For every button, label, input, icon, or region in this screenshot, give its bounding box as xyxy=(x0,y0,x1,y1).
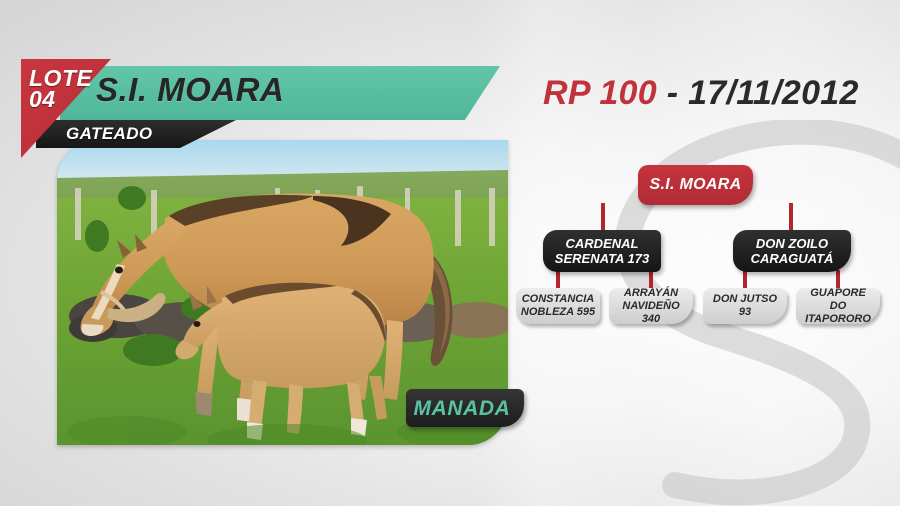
connector-root-sire xyxy=(601,203,605,232)
gp4-line1: GUAPORE xyxy=(810,287,866,299)
pedigree-node-grandparent-1: CONSTANCIA NOBLEZA 595 xyxy=(516,288,600,324)
lot-slide: LOTE 04 S.I. MOARA GATEADO xyxy=(0,0,900,506)
pedigree-dam-label: DON ZOILO CARAGUATÁ xyxy=(751,236,834,266)
pedigree-tree: S.I. MOARA CARDENAL SERENATA 173 DON ZOI… xyxy=(505,160,900,350)
pedigree-node-dam: DON ZOILO CARAGUATÁ xyxy=(733,230,851,272)
pedigree-sire-line2: SERENATA 173 xyxy=(555,251,649,266)
connector-sire-gp1 xyxy=(556,270,560,290)
gp1-line1: CONSTANCIA xyxy=(522,293,595,305)
category-badge-label: MANADA xyxy=(406,397,518,421)
connector-root-dam xyxy=(789,203,793,232)
sale-date: - 17/11/2012 xyxy=(667,74,859,112)
lot-number-text: LOTE 04 xyxy=(29,68,92,110)
pedigree-sire-label: CARDENAL SERENATA 173 xyxy=(555,236,649,266)
gp2-line1: ARRAYÁN xyxy=(624,287,678,299)
pedigree-node-grandparent-4: GUAPORE DO ITAPORORO xyxy=(796,288,880,324)
pedigree-sire-line1: CARDENAL xyxy=(566,236,639,251)
registry-date-header: RP 100 - 17/11/2012 xyxy=(543,74,859,113)
gp2-line2: NAVIDEÑO 340 xyxy=(622,300,679,325)
category-badge: MANADA xyxy=(406,389,524,427)
page-title: S.I. MOARA xyxy=(96,71,284,109)
gp3-line1: DON JUTSO 93 xyxy=(713,293,777,318)
pedigree-node-grandparent-3: DON JUTSO 93 xyxy=(703,288,787,324)
connector-dam-gp1 xyxy=(743,270,747,290)
pedigree-dam-line2: CARAGUATÁ xyxy=(751,251,834,266)
pedigree-node-sire: CARDENAL SERENATA 173 xyxy=(543,230,661,272)
pedigree-node-grandparent-2: ARRAYÁN NAVIDEÑO 340 xyxy=(609,288,693,324)
coat-label: GATEADO xyxy=(66,124,153,144)
pedigree-dam-line1: DON ZOILO xyxy=(756,236,828,251)
lot-number: 04 xyxy=(29,89,92,110)
gp4-line2: DO ITAPORORO xyxy=(805,300,871,325)
gp1-line2: NOBLEZA 595 xyxy=(521,306,595,318)
registry-number: RP 100 xyxy=(543,74,657,112)
pedigree-root-label: S.I. MOARA xyxy=(650,176,742,194)
pedigree-node-root: S.I. MOARA xyxy=(638,165,753,205)
